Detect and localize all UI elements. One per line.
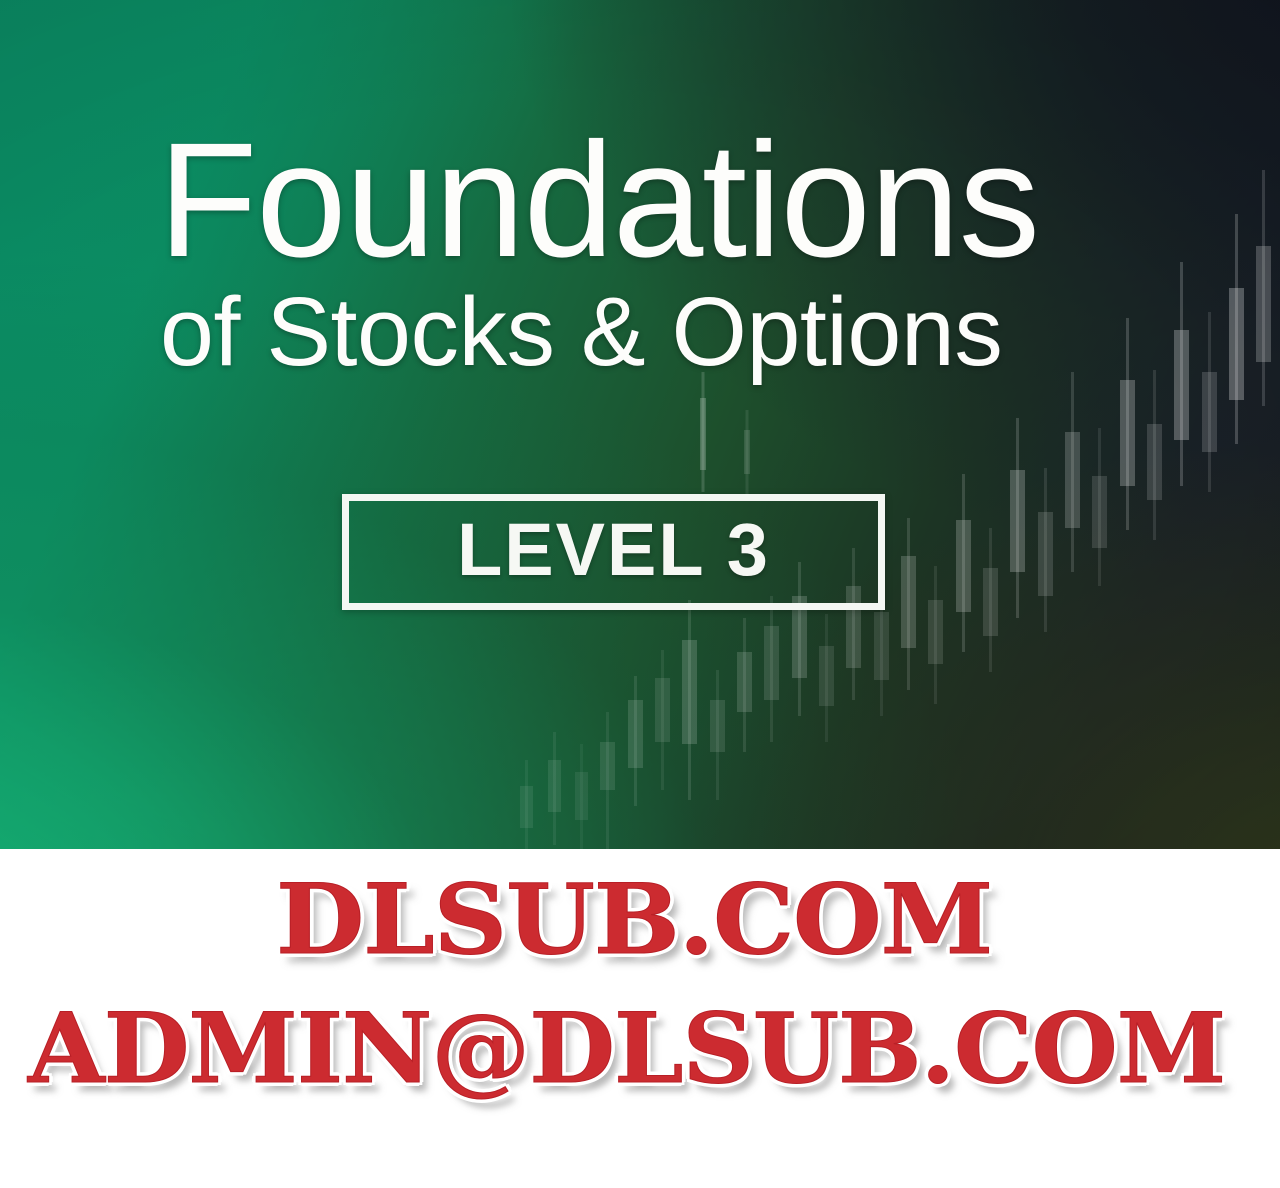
watermark-contact-email: ADMIN@DLSUB.COM [28,1001,1225,1097]
watermark-strip: DLSUB.COM ADMIN@DLSUB.COM [0,849,1280,1188]
level-badge-label: LEVEL 3 [457,513,770,587]
page-title: Foundations [158,118,1039,281]
level-badge: LEVEL 3 [342,494,885,610]
page-subtitle: of Stocks & Options [160,283,1002,380]
watermark-site-url: DLSUB.COM [276,872,992,968]
course-banner-page: Foundations of Stocks & Options LEVEL 3 … [0,0,1280,1188]
hero-banner: Foundations of Stocks & Options LEVEL 3 [0,0,1280,849]
headline-block: Foundations of Stocks & Options LEVEL 3 [0,0,1280,849]
